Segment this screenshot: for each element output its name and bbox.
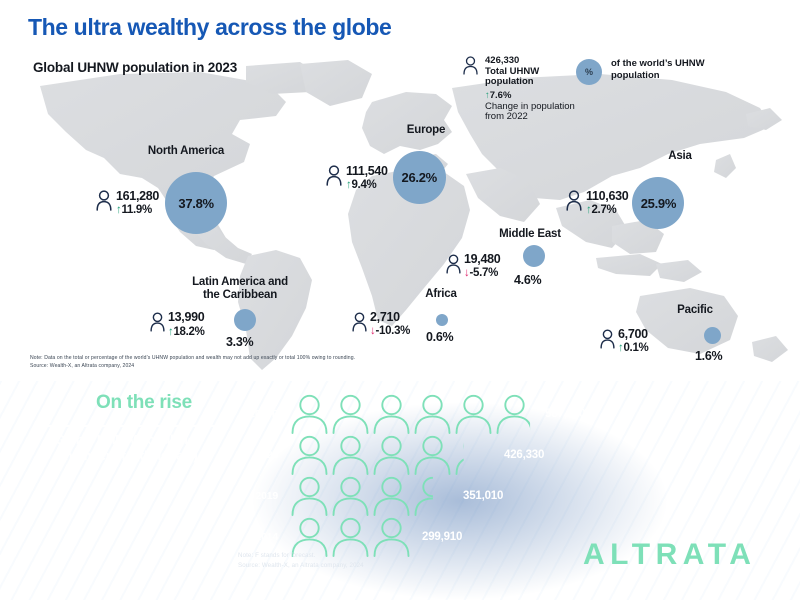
pictogram-value-label: 299,910 [422, 531, 462, 543]
legend-share-label-1: of the world’s UHNW [611, 58, 705, 70]
map-panel: The ultra wealthy across the globe Globa… [0, 0, 800, 381]
legend-change-value: ↑7.6% [485, 91, 575, 102]
person-icon [446, 254, 461, 279]
on-the-rise-subtitle: Global UHNW population (number of indivi… [38, 432, 220, 465]
pictogram-figures: 587,650 [289, 393, 585, 434]
pictogram-year-label: 2019 [238, 490, 278, 502]
pictogram-value-label: 587,650 [545, 408, 585, 420]
pictogram-row: 2019351,010 [238, 475, 585, 516]
bottom-footnote: Note: F stands for forecast. Source: Wea… [238, 551, 364, 571]
pictogram-value-label: 351,010 [463, 490, 503, 502]
map-footnote-source: Source: Wealth-X, an Altrata company, 20… [30, 363, 355, 371]
region-label-africa: Africa [380, 288, 502, 301]
bottom-footnote-note: Note: F stands for forecast. [238, 551, 364, 561]
person-icon [463, 56, 478, 123]
region-count-europe: 111,540 [346, 165, 388, 178]
region-label-europe: Europe [366, 124, 486, 137]
region-label-middle-east: Middle East [454, 228, 606, 241]
legend-total-label-2: population [485, 77, 575, 88]
region-count-africa: 2,710 [370, 311, 410, 324]
infographic-root: The ultra wealthy across the globe Globa… [0, 0, 800, 600]
share-label-africa: 0.6% [426, 330, 453, 344]
map-footnote-note: Note: Data on the total or percentage of… [30, 355, 355, 363]
legend-change-label-2: from 2022 [485, 112, 575, 123]
pictogram-year-label: 2023 [238, 449, 278, 461]
region-count-north-america: 161,280 [116, 190, 159, 203]
region-africa: Africa 2,710 ↓-10.3% 0.6% [352, 288, 502, 337]
region-count-pacific: 6,700 [618, 328, 648, 341]
legend-share-label-2: population [611, 70, 705, 82]
pictogram-row: 2023426,330 [238, 434, 585, 475]
legend-share-of-world: % of the world’s UHNW population [576, 58, 705, 85]
region-count-latin-america: 13,990 [168, 311, 205, 324]
region-count-middle-east: 19,480 [464, 253, 500, 266]
legend-total-population: 426,330 Total UHNW population ↑7.6% Chan… [463, 56, 575, 123]
region-label-north-america: North America [96, 145, 276, 158]
map-footnote: Note: Data on the total or percentage of… [30, 355, 355, 371]
region-label-latin-america: Latin America andthe Caribbean [150, 276, 330, 302]
person-icon [352, 312, 367, 337]
pictogram-year-label: 2028F [238, 408, 278, 420]
share-bubble-africa [436, 314, 448, 326]
region-label-pacific: Pacific [620, 304, 770, 317]
share-bubble-asia: 25.9% [632, 177, 684, 229]
region-middle-east: Middle East 19,480 ↓-5.7% 4.6% [446, 228, 606, 279]
pictogram-year-label: 2014 [238, 531, 278, 543]
on-the-rise-title: On the rise [96, 392, 192, 414]
altrata-logo: ALTRATA [583, 538, 756, 572]
share-label-pacific: 1.6% [695, 349, 722, 363]
person-icon [600, 329, 615, 354]
share-label-latin-america: 3.3% [226, 335, 253, 349]
person-icon [150, 312, 165, 337]
region-label-asia: Asia [614, 150, 746, 163]
share-bubble-middle-east [523, 245, 545, 267]
percent-circle-icon: % [576, 59, 602, 85]
region-latin-america: Latin America andthe Caribbean 13,990 ↑1… [150, 276, 330, 338]
region-change-asia: ↑2.7% [586, 204, 628, 216]
pictogram-figures: 426,330 [289, 434, 544, 475]
region-change-latin-america: ↑18.2% [168, 326, 205, 338]
region-change-north-america: ↑11.9% [116, 204, 159, 216]
pictogram-row: 2028F587,650 [238, 393, 585, 434]
region-change-africa: ↓-10.3% [370, 325, 410, 337]
pictogram-value-label: 426,330 [504, 449, 544, 461]
bottom-footnote-source: Source: Wealth-X, an Altrata company, 20… [238, 561, 364, 571]
pictogram-figures: 351,010 [289, 475, 503, 516]
share-bubble-north-america: 37.8% [165, 172, 227, 234]
subtitle-line-1: Global UHNW population [55, 432, 203, 447]
region-change-pacific: ↑0.1% [618, 342, 648, 354]
pictogram-chart: 2028F587,6502023426,3302019351,010201429… [238, 393, 585, 557]
share-bubble-europe: 26.2% [393, 151, 446, 204]
region-europe: Europe 111,540 ↑9.4% 26.2% [326, 124, 486, 204]
share-bubble-latin-america [234, 309, 256, 331]
region-asia: Asia 110,630 ↑2.7% 25.9% [566, 150, 746, 229]
region-count-asia: 110,630 [586, 190, 628, 203]
region-change-middle-east: ↓-5.7% [464, 267, 500, 279]
share-label-middle-east: 4.6% [514, 273, 541, 287]
region-pacific: Pacific 6,700 ↑0.1% 1.6% [600, 304, 770, 354]
person-icon [96, 190, 112, 216]
share-bubble-pacific [704, 327, 721, 344]
divider-rule [38, 425, 220, 427]
region-north-america: North America 161,280 ↑11.9% 37.8% [96, 145, 276, 234]
person-icon [326, 165, 342, 191]
region-change-europe: ↑9.4% [346, 179, 388, 191]
page-title: The ultra wealthy across the globe [28, 14, 391, 41]
map-subtitle: Global UHNW population in 2023 [33, 60, 237, 75]
person-icon [566, 190, 582, 216]
subtitle-line-2: (number of individuals) [61, 448, 198, 463]
